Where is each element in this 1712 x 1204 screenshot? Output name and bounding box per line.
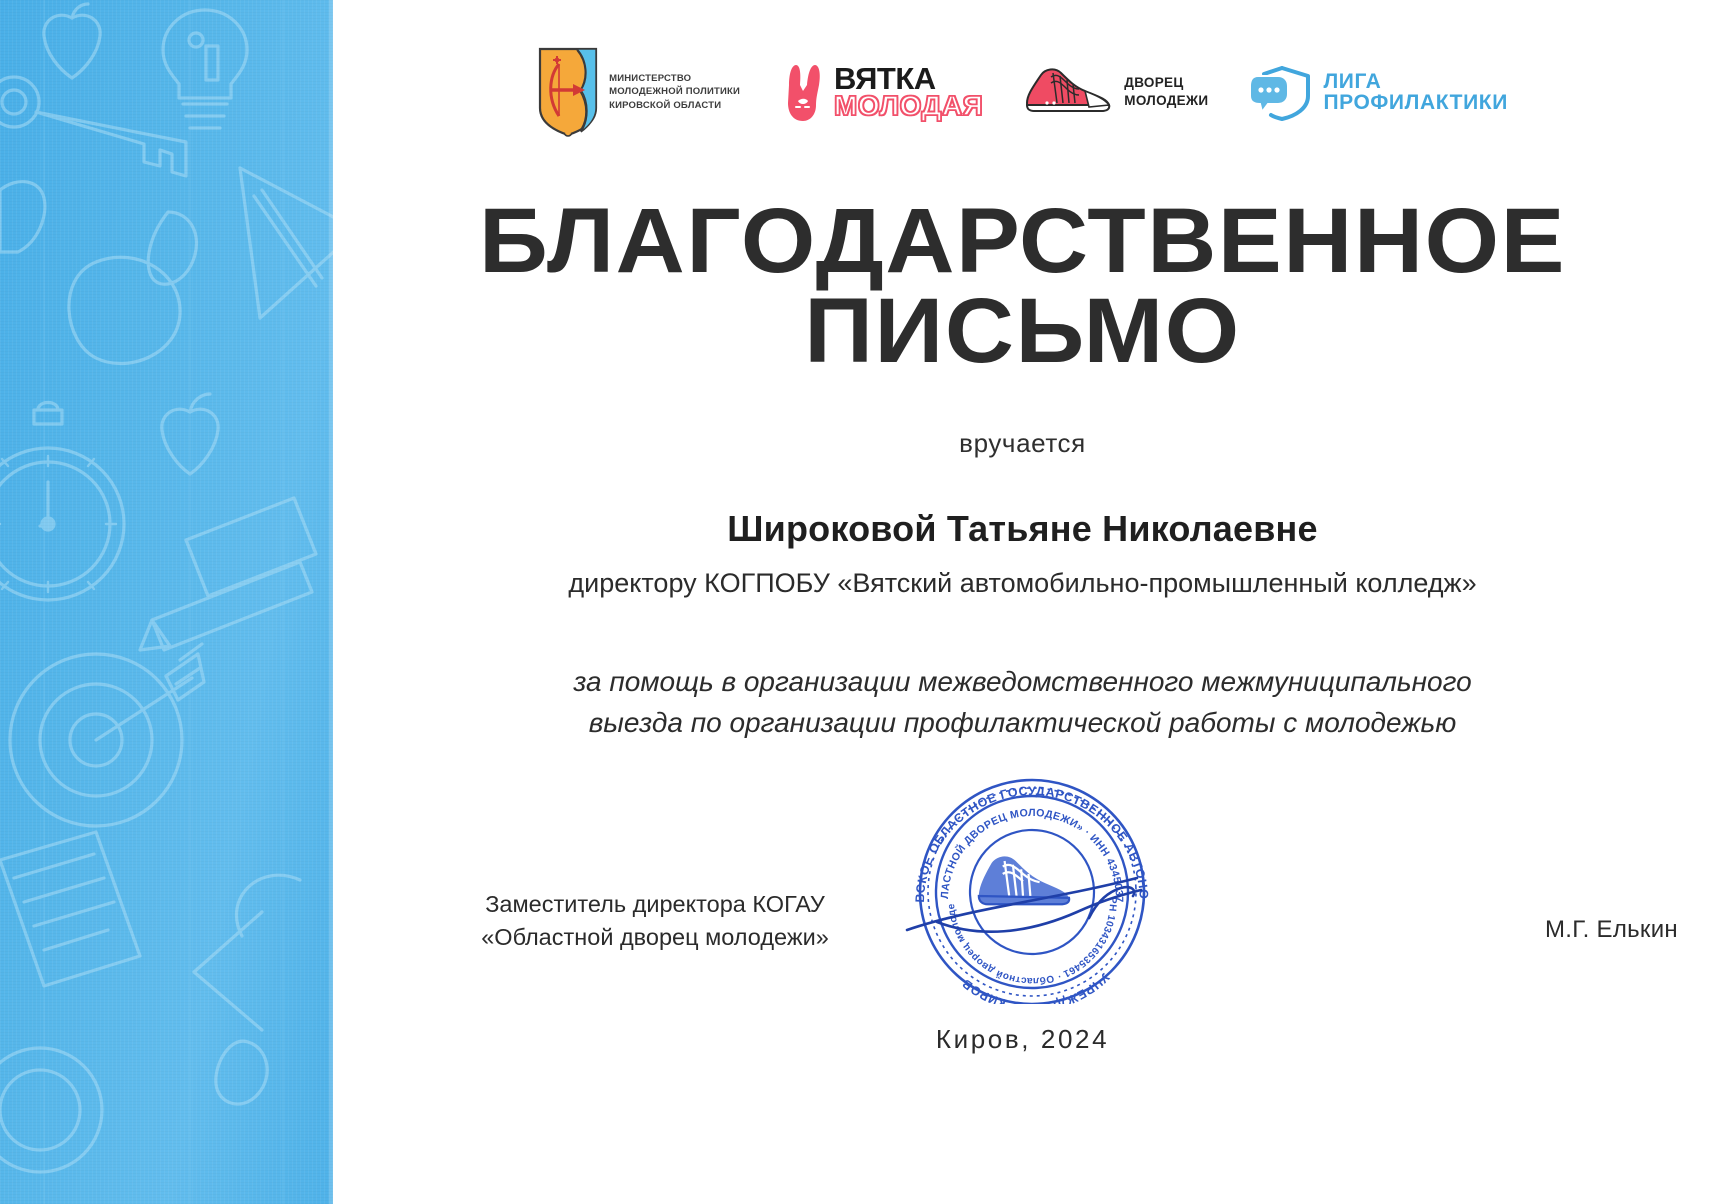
svg-text:ОГРН 1034316535461 · Областной: ОГРН 1034316535461 · Областной дворец мо…: [901, 772, 1118, 987]
logo-ministry: МИНИСТЕРСТВО МОЛОДЕЖНОЙ ПОЛИТИКИ КИРОВСК…: [537, 46, 740, 138]
recipient-role: директору КОГПОБУ «Вятский автомобильно-…: [333, 568, 1712, 599]
svg-text:УЧРЕЖДЕНИЕ · КИРОВ ·: УЧРЕЖДЕНИЕ · КИРОВ ·: [952, 970, 1112, 1004]
title-line-2: ПИСЬМО: [305, 286, 1712, 376]
ministry-line-1: МИНИСТЕРСТВО: [609, 72, 740, 85]
vyatka-word-bottom: МОЛОДАЯ: [834, 93, 983, 119]
handwritten-signature: [907, 878, 1141, 932]
stamp-outer-text-bottom: УЧРЕЖДЕНИЕ · КИРОВ ·: [952, 970, 1112, 1004]
liga-line-2: ПРОФИЛАКТИКИ: [1323, 92, 1507, 113]
svg-text:«ОБЛАСТНОЙ ДВОРЕЦ МОЛОДЕЖИ» ·: «ОБЛАСТНОЙ ДВОРЕЦ МОЛОДЕЖИ» · ИНН 434503…: [901, 772, 1125, 903]
signer-title: Заместитель директора КОГАУ «Областной д…: [395, 888, 915, 955]
vyatka-word-top: ВЯТКА: [834, 65, 983, 94]
certificate-content: МИНИСТЕРСТВО МОЛОДЕЖНОЙ ПОЛИТИКИ КИРОВСК…: [333, 0, 1712, 1204]
official-round-seal: КИРОВСКОЕ ОБЛАСТНОЕ ГОСУДАРСТВЕННОЕ АВТО…: [901, 772, 1163, 1004]
signer-title-line-2: «Областной дворец молодежи»: [395, 921, 915, 954]
award-reason-line-1: за помощь в организации межведомственног…: [385, 662, 1660, 703]
page-title: БЛАГОДАРСТВЕННОЕ ПИСЬМО: [333, 196, 1712, 376]
stamp-ogrn-text: ОГРН 1034316535461 · Областной дворец мо…: [901, 772, 1118, 987]
certificate-page: МИНИСТЕРСТВО МОЛОДЕЖНОЙ ПОЛИТИКИ КИРОВСК…: [0, 0, 1712, 1204]
logo-dvorets-text: ДВОРЕЦ МОЛОДЕЖИ: [1124, 74, 1208, 110]
stamp-inn-text: «ОБЛАСТНОЙ ДВОРЕЦ МОЛОДЕЖИ» · ИНН 434503…: [901, 772, 1125, 903]
signer-title-line-1: Заместитель директора КОГАУ: [395, 888, 915, 921]
decorative-sidebar: [0, 0, 333, 1204]
logo-strip: МИНИСТЕРСТВО МОЛОДЕЖНОЙ ПОЛИТИКИ КИРОВСК…: [333, 36, 1712, 148]
logo-dvorets-molodezhi: ДВОРЕЦ МОЛОДЕЖИ: [1023, 63, 1208, 121]
sidebar-doodle-pattern: [0, 0, 333, 1204]
logo-vyatka-text: ВЯТКА МОЛОДАЯ: [834, 65, 983, 119]
svg-text:КИРОВСКОЕ ОБЛАСТНОЕ ГОСУДАРСТВ: КИРОВСКОЕ ОБЛАСТНОЕ ГОСУДАРСТВЕННОЕ АВТО…: [901, 772, 1151, 903]
stamp-sneaker-icon: [979, 856, 1069, 904]
ministry-line-2: МОЛОДЕЖНОЙ ПОЛИТИКИ: [609, 85, 740, 98]
peace-hand-icon: [780, 61, 826, 123]
title-line-1: БЛАГОДАРСТВЕННОЕ: [305, 196, 1712, 286]
award-reason-line-2: выезда по организации профилактической р…: [385, 703, 1660, 744]
stamp-outer-text: КИРОВСКОЕ ОБЛАСТНОЕ ГОСУДАРСТВЕННОЕ АВТО…: [901, 772, 1151, 903]
award-reason: за помощь в организации межведомственног…: [385, 662, 1660, 744]
presented-label: вручается: [333, 428, 1712, 459]
signer-name: М.Г. Елькин: [1545, 916, 1678, 944]
city-year: Киров, 2024: [333, 1024, 1712, 1055]
kirov-coat-of-arms-icon: [537, 46, 599, 138]
logo-vyatka-molodaya: ВЯТКА МОЛОДАЯ: [780, 61, 983, 123]
logo-liga-text: ЛИГА ПРОФИЛАКТИКИ: [1323, 71, 1507, 114]
ministry-line-3: КИРОВСКОЙ ОБЛАСТИ: [609, 99, 740, 112]
recipient-name: Широковой Татьяне Николаевне: [333, 508, 1712, 550]
logo-ministry-text: МИНИСТЕРСТВО МОЛОДЕЖНОЙ ПОЛИТИКИ КИРОВСК…: [609, 72, 740, 112]
sneaker-icon: [1023, 63, 1115, 121]
liga-line-1: ЛИГА: [1323, 71, 1507, 92]
dvorets-line-2: МОЛОДЕЖИ: [1124, 92, 1208, 110]
logo-liga-profilaktiki: ЛИГА ПРОФИЛАКТИКИ: [1248, 62, 1507, 122]
shield-speech-bubble-icon: [1248, 62, 1314, 122]
dvorets-line-1: ДВОРЕЦ: [1124, 74, 1208, 92]
